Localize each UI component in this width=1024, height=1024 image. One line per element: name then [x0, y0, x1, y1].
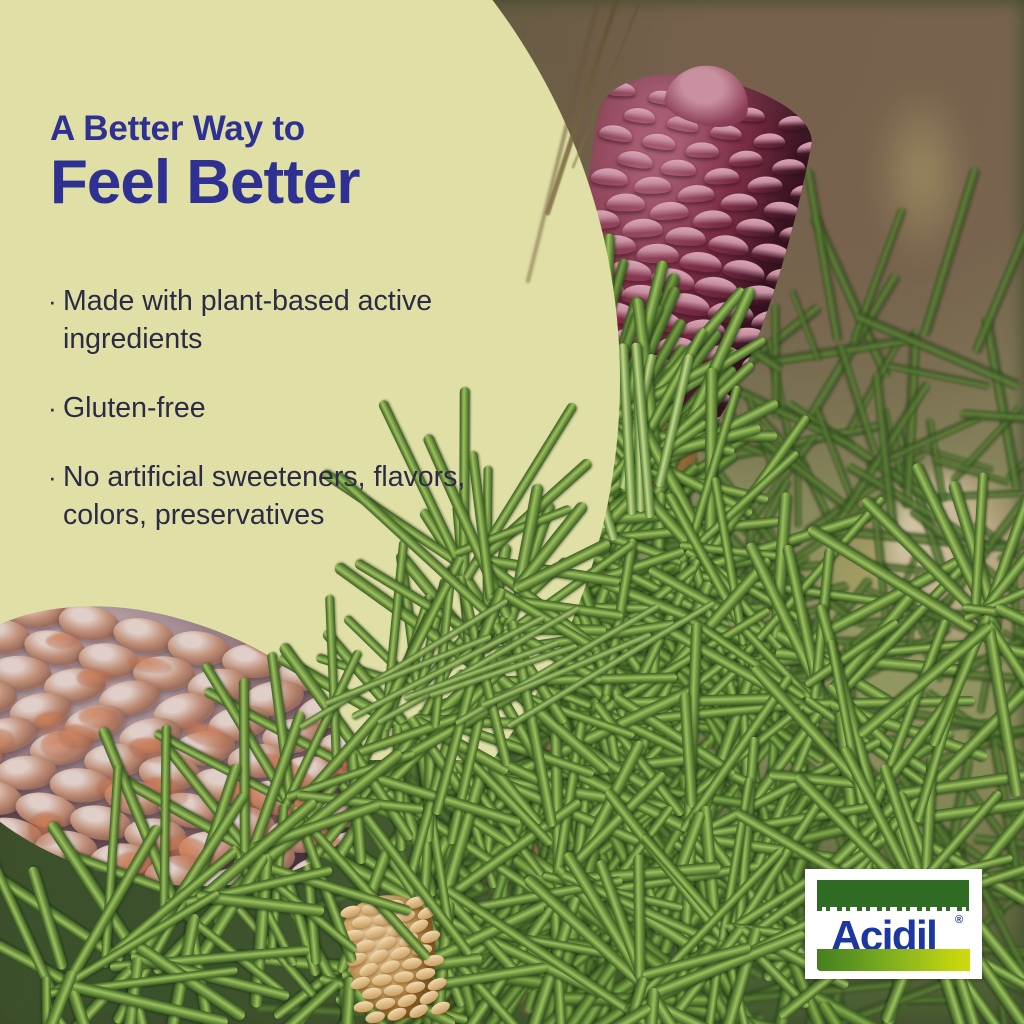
logo-green-bar: [817, 880, 969, 907]
logo-green-bar-torn-edge: [817, 904, 969, 911]
benefit-text: Made with plant-based active ingredients: [63, 282, 468, 358]
acidil-logo[interactable]: Acidil ®: [805, 869, 982, 979]
headline: A Better Way to Feel Better: [50, 108, 570, 214]
pine-needle: [633, 854, 645, 981]
ad-creative: A Better Way to Feel Better ·Made with p…: [0, 0, 1024, 1024]
registered-trademark-icon: ®: [955, 914, 963, 926]
headline-line-2: Feel Better: [50, 152, 570, 214]
benefit-text: No artificial sweeteners, flavors, color…: [63, 458, 468, 534]
headline-line-1: A Better Way to: [50, 108, 570, 150]
logo-swoosh: [817, 949, 970, 971]
bullet-dot-icon: ·: [48, 282, 63, 358]
benefit-text: Gluten-free: [63, 389, 468, 427]
benefits-list: ·Made with plant-based active ingredient…: [48, 282, 468, 534]
benefit-item: ·Made with plant-based active ingredient…: [48, 282, 468, 358]
bullet-dot-icon: ·: [48, 389, 63, 427]
small-tan-cone: [337, 889, 446, 1024]
benefit-item: ·No artificial sweeteners, flavors, colo…: [48, 458, 468, 534]
benefit-item: ·Gluten-free: [48, 389, 468, 427]
bullet-dot-icon: ·: [48, 458, 63, 534]
